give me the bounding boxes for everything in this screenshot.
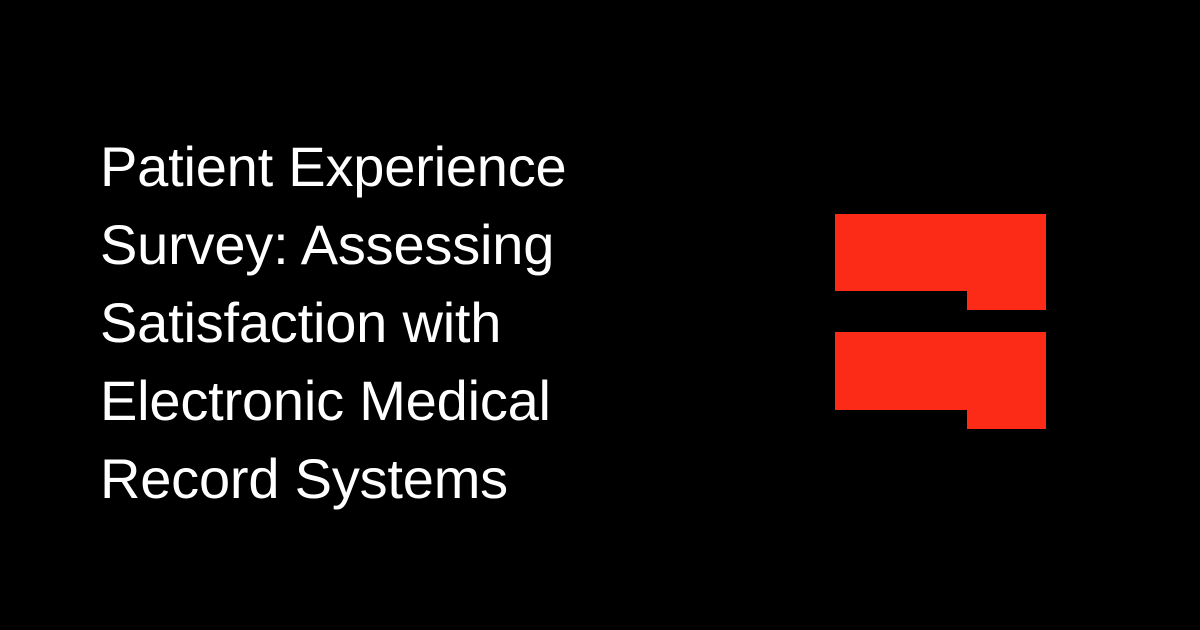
page-title: Patient Experience Survey: Assessing Sat… <box>100 128 720 518</box>
title-block: Patient Experience Survey: Assessing Sat… <box>100 128 720 518</box>
brand-logo <box>835 214 1046 429</box>
logo-bar-lower <box>835 332 1046 429</box>
logo-bar-upper <box>835 214 1046 310</box>
stepped-bars-logo-icon <box>835 214 1046 429</box>
social-card: Patient Experience Survey: Assessing Sat… <box>0 0 1200 630</box>
